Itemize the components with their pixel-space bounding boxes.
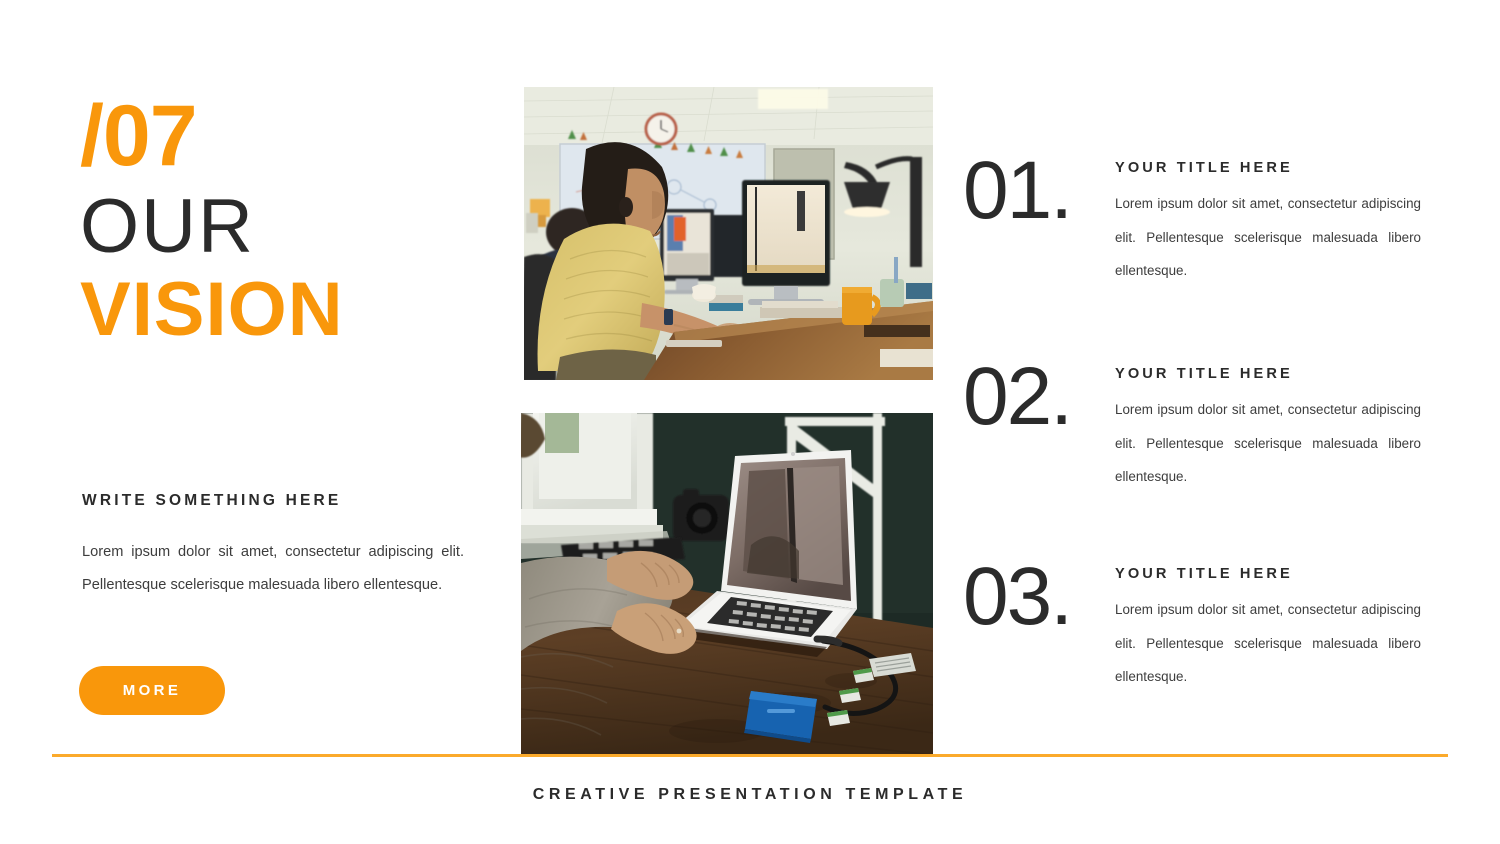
slide-heading-group: /07 OUR VISION bbox=[80, 96, 500, 351]
feature-body: YOUR TITLE HERE Lorem ipsum dolor sit am… bbox=[1115, 566, 1421, 694]
feature-text: Lorem ipsum dolor sit amet, consectetur … bbox=[1115, 393, 1421, 494]
feature-item-03: 03. YOUR TITLE HERE Lorem ipsum dolor si… bbox=[963, 546, 1433, 746]
page-title-line-2: VISION bbox=[80, 269, 500, 351]
office-workspace-photo bbox=[524, 87, 933, 380]
more-button[interactable]: MORE bbox=[79, 666, 225, 715]
feature-list: 01. YOUR TITLE HERE Lorem ipsum dolor si… bbox=[963, 140, 1433, 746]
footer-label: CREATIVE PRESENTATION TEMPLATE bbox=[0, 786, 1500, 804]
feature-number: 03. bbox=[963, 556, 1071, 638]
feature-text: Lorem ipsum dolor sit amet, consectetur … bbox=[1115, 187, 1421, 288]
feature-title: YOUR TITLE HERE bbox=[1115, 366, 1421, 382]
feature-title: YOUR TITLE HERE bbox=[1115, 160, 1421, 176]
feature-number: 01. bbox=[963, 150, 1071, 232]
feature-item-01: 01. YOUR TITLE HERE Lorem ipsum dolor si… bbox=[963, 140, 1433, 340]
section-number: /07 bbox=[80, 96, 500, 178]
feature-body: YOUR TITLE HERE Lorem ipsum dolor sit am… bbox=[1115, 366, 1421, 494]
footer-divider bbox=[52, 754, 1448, 757]
page-title-line-1: OUR bbox=[80, 184, 500, 269]
feature-text: Lorem ipsum dolor sit amet, consectetur … bbox=[1115, 593, 1421, 694]
laptop-desk-photo bbox=[521, 413, 933, 755]
sub-heading: WRITE SOMETHING HERE bbox=[82, 492, 341, 510]
presentation-slide: /07 OUR VISION WRITE SOMETHING HERE Lore… bbox=[0, 0, 1500, 844]
feature-title: YOUR TITLE HERE bbox=[1115, 566, 1421, 582]
intro-paragraph: Lorem ipsum dolor sit amet, consectetur … bbox=[82, 536, 464, 602]
feature-body: YOUR TITLE HERE Lorem ipsum dolor sit am… bbox=[1115, 160, 1421, 288]
feature-item-02: 02. YOUR TITLE HERE Lorem ipsum dolor si… bbox=[963, 346, 1433, 546]
feature-number: 02. bbox=[963, 356, 1071, 438]
